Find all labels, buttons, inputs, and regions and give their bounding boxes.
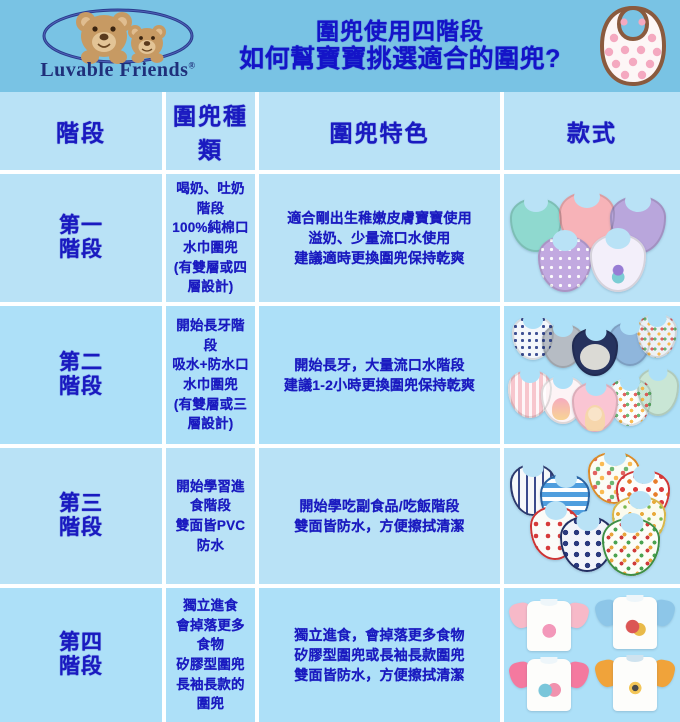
product-photo-stage-1 xyxy=(504,174,680,302)
table-row: 第四 階段 獨立進食 會掉落更多食物 矽膠型圍兜 長袖長款的圍兜 獨立進食，會掉… xyxy=(0,588,680,722)
stage-cell: 第一 階段 xyxy=(0,174,166,302)
feature-cell: 適合剛出生稚嫩皮膚寶寶使用 溢奶、少量流口水使用 建議適時更換圍兜保持乾爽 xyxy=(259,174,504,302)
infographic-page: Luvable Friends® 圍兜使用四階段 如何幫寶寶挑選適合的圍兜? 階… xyxy=(0,0,680,680)
table-header-row: 階段 圍兜種類 圍兜特色 款式 xyxy=(0,92,680,174)
pink-polka-dot-bib-icon xyxy=(594,2,672,90)
stage-line-2: 階段 xyxy=(59,375,103,399)
brand-wordmark: Luvable Friends® xyxy=(28,59,208,82)
feature-line: 矽膠型圍兜或長袖長款圍兜 xyxy=(294,645,464,665)
table-row: 第二 階段 開始長牙階段 吸水+防水口水巾圍兜 (有雙層或三層設計) 開始長牙，… xyxy=(0,306,680,448)
column-header-stage: 階段 xyxy=(0,92,166,170)
column-header-type: 圍兜種類 xyxy=(166,92,259,170)
registered-mark: ® xyxy=(188,60,195,70)
type-line: 獨立進食 xyxy=(170,596,251,616)
feature-cell: 開始學吃副食品/吃飯階段 雙面皆防水，方便擦拭清潔 xyxy=(259,448,504,584)
feature-line: 雙面皆防水，方便擦拭清潔 xyxy=(294,516,464,536)
type-line: 吸水+防水口水巾圍兜 xyxy=(170,355,251,394)
type-cell: 開始長牙階段 吸水+防水口水巾圍兜 (有雙層或三層設計) xyxy=(166,306,259,444)
type-line: (有雙層或三層設計) xyxy=(170,395,251,434)
stage-line-2: 階段 xyxy=(59,655,103,679)
title-line-1: 圍兜使用四階段 xyxy=(215,18,585,45)
feature-line: 適合剛出生稚嫩皮膚寶寶使用 xyxy=(287,208,472,228)
type-cell: 喝奶、吐奶階段 100%純棉口水巾圍兜 (有雙層或四層設計) xyxy=(166,174,259,302)
stage-line-1: 第四 xyxy=(59,631,103,655)
stage-line-1: 第二 xyxy=(59,351,103,375)
brand-logo: Luvable Friends® xyxy=(28,6,208,86)
type-line: 開始長牙階段 xyxy=(170,316,251,355)
header-banner: Luvable Friends® 圍兜使用四階段 如何幫寶寶挑選適合的圍兜? xyxy=(0,0,680,92)
type-line: 矽膠型圍兜 xyxy=(170,655,251,675)
style-image-cell xyxy=(504,448,680,584)
type-line: (有雙層或四層設計) xyxy=(170,258,251,297)
product-photo-stage-2 xyxy=(504,306,680,444)
feature-line: 獨立進食，會掉落更多食物 xyxy=(294,625,464,645)
table-row: 第三 階段 開始學習進食階段 雙面皆PVC防水 開始學吃副食品/吃飯階段 雙面皆… xyxy=(0,448,680,588)
table-row: 第一 階段 喝奶、吐奶階段 100%純棉口水巾圍兜 (有雙層或四層設計) 適合剛… xyxy=(0,174,680,306)
product-photo-stage-3 xyxy=(504,448,680,584)
stage-cell: 第二 階段 xyxy=(0,306,166,444)
column-header-feature: 圍兜特色 xyxy=(259,92,504,170)
type-line: 長袖長款的圍兜 xyxy=(170,675,251,714)
type-line: 開始學習進食階段 xyxy=(170,477,251,516)
column-header-style: 款式 xyxy=(504,92,680,170)
style-image-cell xyxy=(504,306,680,444)
style-image-cell xyxy=(504,174,680,302)
stage-cell: 第四 階段 xyxy=(0,588,166,722)
type-line: 喝奶、吐奶階段 xyxy=(170,179,251,218)
type-line: 會掉落更多食物 xyxy=(170,616,251,655)
feature-line: 建議1-2小時更換圍兜保持乾爽 xyxy=(284,375,475,395)
type-cell: 開始學習進食階段 雙面皆PVC防水 xyxy=(166,448,259,584)
feature-cell: 開始長牙，大量流口水階段 建議1-2小時更換圍兜保持乾爽 xyxy=(259,306,504,444)
feature-line: 溢奶、少量流口水使用 xyxy=(287,228,472,248)
product-photo-stage-4 xyxy=(504,588,680,722)
page-title: 圍兜使用四階段 如何幫寶寶挑選適合的圍兜? xyxy=(215,18,585,75)
type-line: 雙面皆PVC防水 xyxy=(170,516,251,555)
brand-name-text: Luvable Friends xyxy=(40,59,188,81)
title-line-2: 如何幫寶寶挑選適合的圍兜? xyxy=(215,45,585,75)
feature-line: 開始學吃副食品/吃飯階段 xyxy=(294,496,464,516)
feature-line: 建議適時更換圍兜保持乾爽 xyxy=(287,248,472,268)
stages-table: 階段 圍兜種類 圍兜特色 款式 第一 階段 喝奶、吐奶階段 100%純棉口水巾圍… xyxy=(0,92,680,680)
stage-line-2: 階段 xyxy=(59,516,103,540)
stage-line-1: 第一 xyxy=(59,214,103,238)
feature-cell: 獨立進食，會掉落更多食物 矽膠型圍兜或長袖長款圍兜 雙面皆防水，方便擦拭清潔 xyxy=(259,588,504,722)
type-line: 100%純棉口水巾圍兜 xyxy=(170,218,251,257)
type-cell: 獨立進食 會掉落更多食物 矽膠型圍兜 長袖長款的圍兜 xyxy=(166,588,259,722)
stage-cell: 第三 階段 xyxy=(0,448,166,584)
style-image-cell xyxy=(504,588,680,722)
stage-line-2: 階段 xyxy=(59,238,103,262)
stage-line-1: 第三 xyxy=(59,492,103,516)
feature-line: 雙面皆防水，方便擦拭清潔 xyxy=(294,665,464,685)
feature-line: 開始長牙，大量流口水階段 xyxy=(284,355,475,375)
